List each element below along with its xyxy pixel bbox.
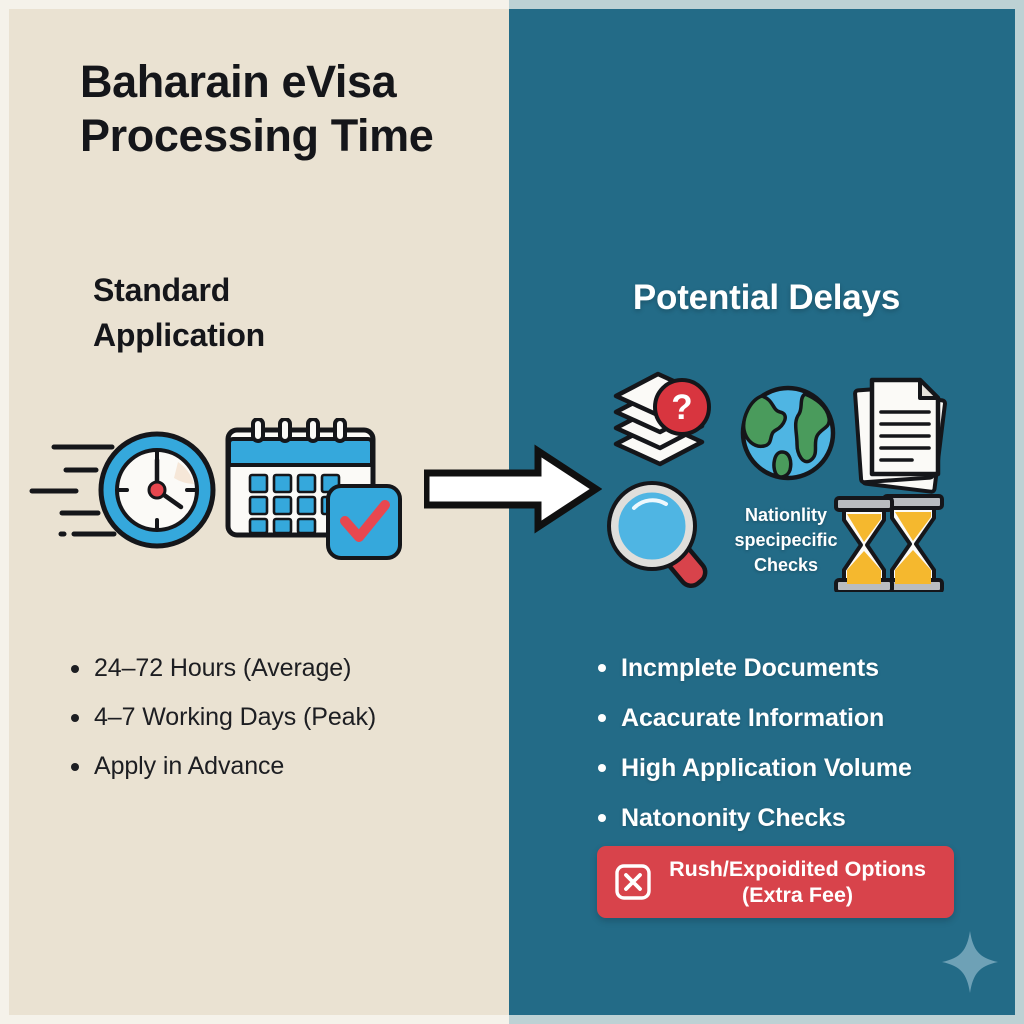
list-item: Acacurate Information: [589, 697, 912, 739]
checkmark-badge-icon: [328, 486, 400, 558]
left-panel-heading-line-1: Standard: [93, 268, 423, 313]
list-item: 24–72 Hours (Average): [62, 648, 376, 689]
list-item: Apply in Advance: [62, 746, 376, 787]
right-panel-heading: Potential Delays: [509, 278, 1024, 318]
left-panel-heading-line-2: Application: [93, 313, 423, 358]
page-title-line-1: Baharain eVisa: [80, 55, 500, 109]
rush-options-line-2: (Extra Fee): [742, 883, 853, 907]
papers-question-icon: ?: [616, 374, 709, 464]
globe-icon: [743, 388, 833, 478]
magnifying-glass-icon: [609, 483, 710, 590]
right-arrow-icon: [424, 444, 602, 534]
x-square-icon: [613, 862, 653, 902]
rush-options-label: Rush/Expoidited Options (Extra Fee): [663, 856, 938, 908]
documents-stack-icon: [855, 380, 945, 492]
caption-line-2: specipecific: [716, 528, 856, 553]
nationality-checks-caption: Nationlity specipecific Checks: [716, 503, 856, 577]
caption-line-1: Nationlity: [716, 503, 856, 528]
list-item: 4–7 Working Days (Peak): [62, 697, 376, 738]
caption-line-3: Checks: [716, 553, 856, 578]
infographic-canvas: Baharain eVisa Processing Time Standard …: [0, 0, 1024, 1024]
clock-icon: [101, 434, 213, 546]
right-bullet-list: Incmplete Documents Acacurate Informatio…: [589, 647, 912, 847]
list-item: Incmplete Documents: [589, 647, 912, 689]
left-panel-heading: Standard Application: [93, 268, 423, 359]
rush-options-badge: Rush/Expoidited Options (Extra Fee): [597, 846, 954, 918]
list-item: High Application Volume: [589, 747, 912, 789]
page-title: Baharain eVisa Processing Time: [80, 55, 500, 164]
list-item: Natononity Checks: [589, 797, 912, 839]
svg-text:?: ?: [671, 388, 692, 427]
page-title-line-2: Processing Time: [80, 109, 500, 163]
four-point-sparkle-icon: [942, 931, 998, 993]
left-icon-group: [28, 418, 418, 593]
rush-options-line-1: Rush/Expoidited Options: [669, 857, 926, 881]
left-bullet-list: 24–72 Hours (Average) 4–7 Working Days (…: [62, 648, 376, 795]
